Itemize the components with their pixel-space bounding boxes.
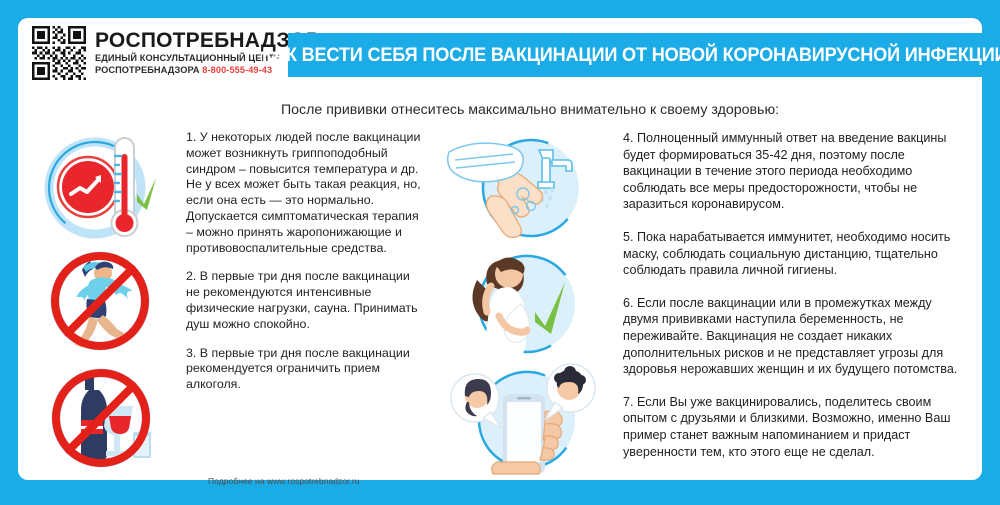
no-alcohol-icon bbox=[43, 362, 161, 474]
right-text-column: 4. Полноценный иммунный ответ на введени… bbox=[619, 130, 982, 474]
qr-code-icon bbox=[32, 26, 86, 80]
poster-root: РОСПОТРЕБНАДЗОР ЕДИНЫЙ КОНСУЛЬТАЦИОННЫЙ … bbox=[0, 0, 1000, 505]
header: РОСПОТРЕБНАДЗОР ЕДИНЫЙ КОНСУЛЬТАЦИОННЫЙ … bbox=[18, 18, 982, 88]
list-item: 7. Если Вы уже вакцинировались, поделите… bbox=[623, 394, 970, 460]
list-item: 5. Пока нарабатывается иммунитет, необхо… bbox=[623, 229, 970, 279]
middle-illustration-column bbox=[434, 130, 619, 474]
mask-handwashing-icon bbox=[439, 130, 614, 246]
list-item: 4. Полноценный иммунный ответ на введени… bbox=[623, 130, 970, 213]
list-item: 6. Если после вакцинации или в промежутк… bbox=[623, 295, 970, 378]
poster-inner-panel: РОСПОТРЕБНАДЗОР ЕДИНЫЙ КОНСУЛЬТАЦИОННЫЙ … bbox=[18, 18, 982, 480]
no-running-icon bbox=[43, 247, 161, 359]
title-bar: КАК ВЕСТИ СЕБЯ ПОСЛЕ ВАКЦИНАЦИИ ОТ НОВОЙ… bbox=[288, 33, 982, 77]
thermometer-fever-icon bbox=[43, 132, 161, 244]
left-illustration-column bbox=[18, 130, 186, 474]
list-item: 2. В первые три дня после вакцинации не … bbox=[186, 269, 426, 332]
subtitle: После прививки отнеситесь максимально вн… bbox=[18, 88, 982, 122]
hotline-phone[interactable]: 8-800-555-49-43 bbox=[202, 65, 272, 75]
page-title: КАК ВЕСТИ СЕБЯ ПОСЛЕ ВАКЦИНАЦИИ ОТ НОВОЙ… bbox=[262, 44, 1000, 67]
brand-subline-2-text: РОСПОТРЕБНАДЗОРА bbox=[95, 65, 200, 75]
list-item: 1. У некоторых людей после вакцинации мо… bbox=[186, 130, 426, 256]
phone-share-experience-icon bbox=[439, 362, 614, 478]
left-text-column: 1. У некоторых людей после вакцинации мо… bbox=[186, 130, 434, 474]
list-item: 3. В первые три дня после вакцинации рек… bbox=[186, 346, 426, 393]
brand-block: РОСПОТРЕБНАДЗОР ЕДИНЫЙ КОНСУЛЬТАЦИОННЫЙ … bbox=[18, 26, 270, 80]
content-area: 1. У некоторых людей после вакцинации мо… bbox=[18, 122, 982, 474]
pregnancy-ok-icon bbox=[439, 246, 614, 362]
